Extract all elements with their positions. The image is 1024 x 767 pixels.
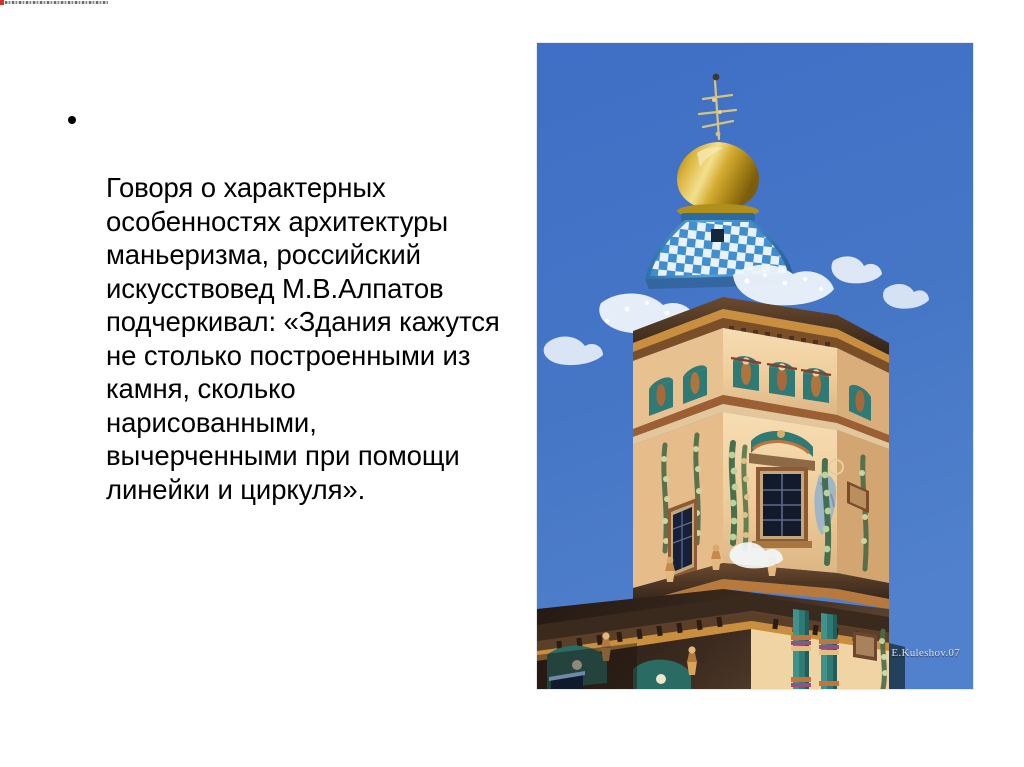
bullet-item-text: Говоря о характерных особенностях архите…	[106, 172, 500, 505]
artifact-red-mark	[0, 0, 4, 5]
artifact-text-dashes	[5, 1, 108, 4]
bullet-item: Говоря о характерных особенностях архите…	[62, 104, 502, 506]
clipped-header-artifact	[0, 0, 108, 6]
bullet-marker-icon	[68, 116, 76, 124]
cathedral-photo: E.Kuleshov.07	[537, 43, 973, 689]
slide-body-text: Говоря о характерных особенностях архите…	[62, 104, 502, 506]
photo-figure: E.Kuleshov.07	[537, 43, 973, 689]
slide-canvas: Говоря о характерных особенностях архите…	[0, 0, 1024, 767]
bullet-list: Говоря о характерных особенностях архите…	[62, 104, 502, 506]
